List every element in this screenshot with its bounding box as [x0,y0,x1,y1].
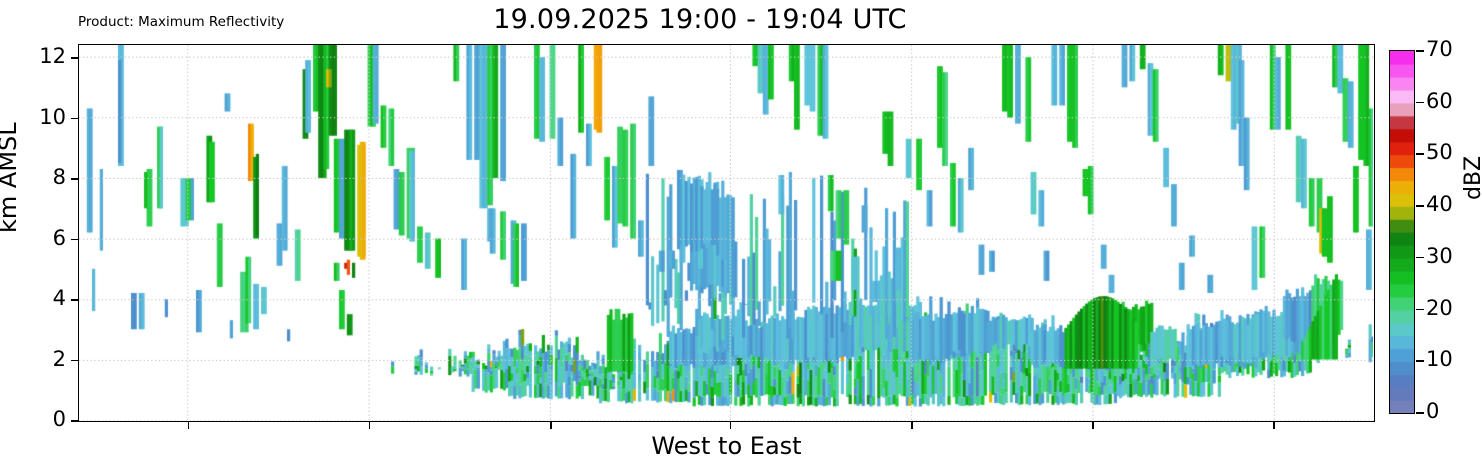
y-axis-tick [71,118,78,120]
colorbar-tick-label: 0 [1426,399,1439,423]
colorbar-tick [1416,205,1424,207]
reflectivity-heatmap [79,45,1373,420]
colorbar-tick [1416,412,1424,414]
x-axis-tick [911,422,913,429]
y-axis-tick [71,57,78,59]
colorbar-tick-label: 60 [1426,89,1453,113]
colorbar-unit-label: dBZ [1461,156,1482,200]
colorbar-tick-label: 70 [1426,37,1453,61]
colorbar-tick [1416,102,1424,104]
y-axis-tick-label: 6 [22,226,66,250]
x-axis-label: West to East [78,432,1375,460]
y-axis-label: km AMSL [0,122,22,233]
y-axis-tick [71,299,78,301]
y-axis-tick [71,420,78,422]
plot-area [78,44,1375,422]
y-axis-tick-label: 8 [22,165,66,189]
y-axis-tick [71,360,78,362]
colorbar-tick [1416,50,1424,52]
x-axis-tick [188,422,190,429]
x-axis-tick [369,422,371,429]
colorbar-gradient [1389,50,1415,414]
y-axis-tick-label: 4 [22,286,66,310]
x-axis-tick [730,422,732,429]
colorbar-tick [1416,360,1424,362]
colorbar-tick-label: 20 [1426,296,1453,320]
y-axis-tick-label: 12 [22,44,66,68]
colorbar-tick [1416,309,1424,311]
y-axis-tick-label: 0 [22,407,66,431]
chart-title: 19.09.2025 19:00 - 19:04 UTC [0,4,1400,35]
x-axis-tick [1092,422,1094,429]
colorbar-tick-label: 30 [1426,244,1453,268]
colorbar-tick-label: 50 [1426,140,1453,164]
colorbar-tick [1416,153,1424,155]
radar-cross-section-figure: Product: Maximum Reflectivity 19.09.2025… [0,0,1482,470]
y-axis-tick-label: 10 [22,105,66,129]
colorbar-tick-label: 40 [1426,192,1453,216]
x-axis-tick [550,422,552,429]
colorbar [1389,50,1415,414]
y-axis-tick-label: 2 [22,347,66,371]
colorbar-tick [1416,257,1424,259]
y-axis-tick [71,239,78,241]
colorbar-tick-label: 10 [1426,347,1453,371]
x-axis-tick [1273,422,1275,429]
y-axis-tick [71,178,78,180]
